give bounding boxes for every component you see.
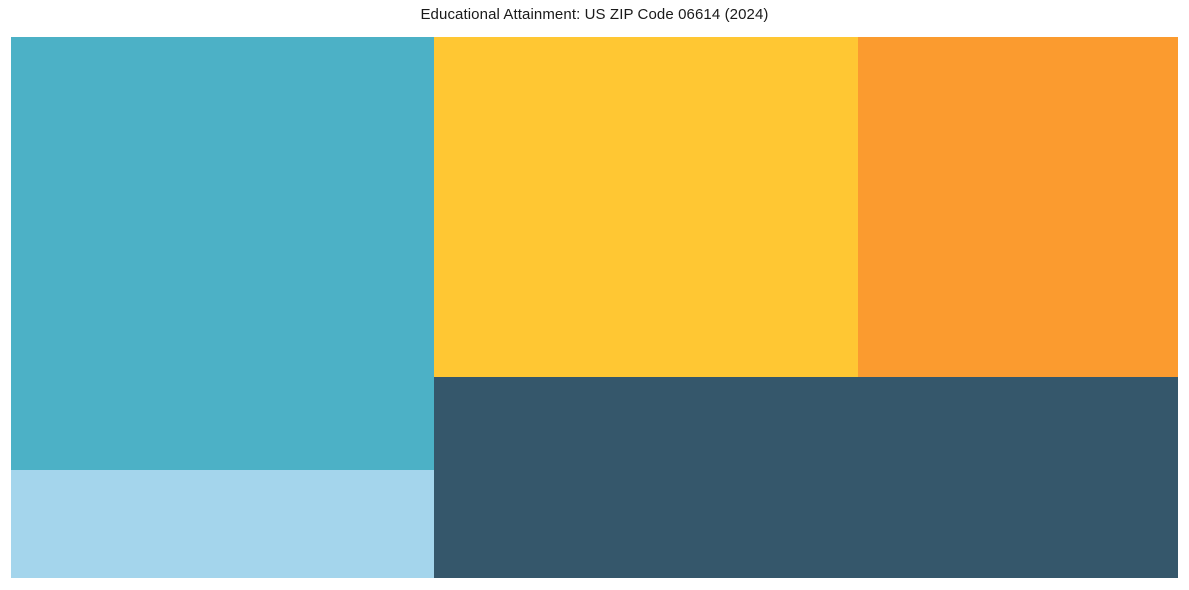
treemap-figure: Educational Attainment: US ZIP Code 0661…: [0, 0, 1189, 590]
chart-title: Educational Attainment: US ZIP Code 0661…: [0, 0, 1189, 37]
treemap-tile-less-than-high-school[interactable]: [434, 377, 1178, 578]
treemap-tile-high-school-graduate[interactable]: [434, 37, 858, 377]
treemap-plot-area: [11, 37, 1178, 578]
treemap-tile-graduate-professional-degree[interactable]: [11, 470, 434, 578]
treemap-tile-some-college-or-associate[interactable]: [858, 37, 1178, 377]
treemap-tile-bachelors-degree[interactable]: [11, 37, 434, 470]
